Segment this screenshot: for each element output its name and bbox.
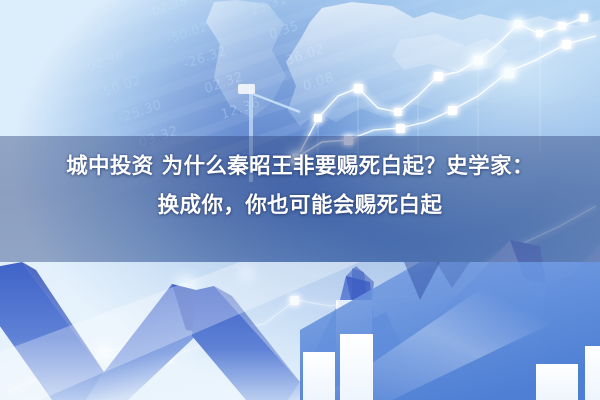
grid-number: -26.32 [182,43,227,72]
grid-number-row: -09.35-11.2545.02-1.16 [0,0,484,31]
grid-number: -02.36 [146,0,189,21]
grid-number: 02.32 [203,69,244,97]
grid-number: -50.02 [97,72,142,101]
grid-number: 2.26 [0,24,9,47]
grid-number: 23.31 [249,0,288,17]
grid-number: 4.25 [9,76,40,100]
grid-number: 1.25 [0,50,25,73]
title-line-1: 城中投资 为什么秦昭王非要赐死白起？史学家： [0,147,600,186]
grid-number: 36.02 [284,41,325,69]
grid-number: -11.25 [49,0,91,22]
grid-number: +5.02 [65,22,106,49]
grid-number: -09.35 [0,0,4,19]
grid-number: 12.36 [220,95,262,123]
grid-number-row: 1.25+5.02-02.361.02 [0,0,497,90]
grid-number-row: 4.25-02.36-50.0223.31 [0,0,504,119]
poster-title: 城中投资 为什么秦昭王非要赐死白起？史学家： 换成你，你也可能会赐死白起 [0,147,600,225]
title-line-2: 换成你，你也可能会赐死白起 [0,186,600,225]
grid-number: -02.36 [81,47,125,76]
grid-number: 1.16 [25,102,57,127]
grid-number-row: 1.16-50.02-26.320.35 [0,0,511,148]
grid-number: -50.02 [165,18,209,47]
grid-number-row: 2.26-11.25+5.024.36 [0,0,490,60]
poster-image: -50.02-02.36-25.3521.02-09.35-11.2545.02… [0,0,600,400]
grid-number-row: -50.02-02.36-25.3521.02 [0,0,477,1]
grid-number: 0.08 [302,69,335,94]
grid-number: -25.30 [117,97,163,126]
grid-number: 0.35 [268,18,300,43]
